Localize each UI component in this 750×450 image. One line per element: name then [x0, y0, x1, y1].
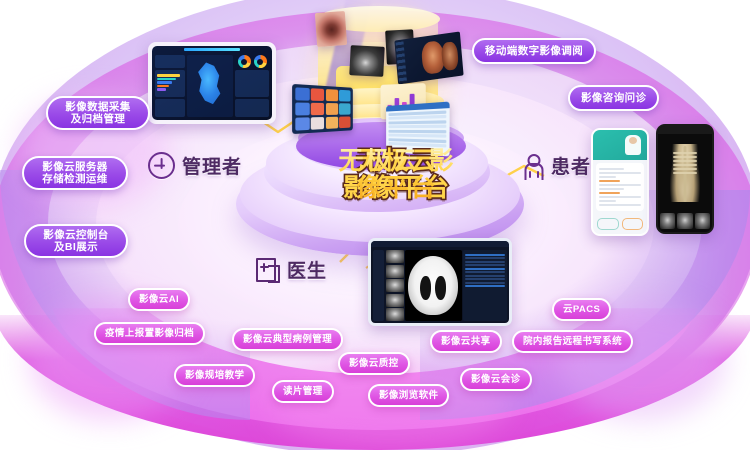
ct-lung-left — [420, 276, 431, 300]
app-tile-panel — [292, 84, 353, 134]
map-region — [195, 62, 224, 105]
person-leg-left — [529, 171, 531, 178]
bar — [157, 74, 180, 77]
pill-image-viewer-software[interactable]: 影像浏览软件 — [368, 384, 449, 407]
pill-label: 影像云典型病例管理 — [243, 334, 332, 345]
dashboard-title-bar — [184, 48, 240, 51]
tile — [295, 87, 309, 101]
platform-title: 无极云 影像平台 — [332, 148, 462, 202]
tile — [295, 102, 309, 115]
phone-3d-viewer — [656, 124, 714, 234]
pill-imaging-training[interactable]: 影像规培教学 — [174, 364, 255, 387]
circled-plus-icon — [148, 152, 175, 179]
pill-image-cloud-console[interactable]: 影像云控制台及BI展示 — [24, 224, 128, 258]
person-leg-right — [537, 171, 539, 178]
report-line-highlight — [599, 180, 620, 182]
thumbnail — [677, 213, 692, 229]
pill-label: 读片管理 — [283, 386, 323, 397]
tile — [339, 116, 350, 128]
role-doctor[interactable]: 医生 — [256, 256, 327, 283]
thumbnail — [660, 213, 675, 229]
pill-image-cloud-sharing[interactable]: 影像云共享 — [430, 330, 502, 353]
stats-widget — [235, 99, 269, 117]
table-row — [388, 134, 446, 138]
worklist-row — [465, 275, 505, 277]
tile — [295, 117, 309, 131]
worklist-row — [465, 261, 505, 263]
pill-label: 移动端数字影像调阅 — [485, 45, 583, 57]
series-thumbnail — [386, 265, 404, 278]
report-line — [599, 200, 616, 202]
tile — [311, 88, 324, 101]
view-image-button[interactable] — [597, 218, 619, 230]
pill-remote-report-writing[interactable]: 院内报告远程书写系统 — [512, 330, 633, 353]
pacs-viewer-screen — [371, 241, 509, 323]
report-app-screen — [593, 130, 647, 234]
worklist-row — [465, 278, 505, 280]
tile — [326, 116, 338, 129]
rib — [673, 152, 697, 154]
pill-image-cloud-qc[interactable]: 影像云质控 — [338, 352, 410, 375]
bi-dashboard-monitor — [148, 42, 276, 124]
pill-image-consultation[interactable]: 影像咨询问诊 — [568, 85, 659, 111]
donut-row — [235, 55, 269, 68]
bi-dashboard-screen — [152, 46, 272, 120]
ct-slice-image — [405, 250, 462, 321]
pill-label: 云PACS — [563, 304, 600, 315]
geo-map-widget — [187, 55, 233, 117]
person-body — [525, 163, 544, 180]
pill-label: 影像云会诊 — [471, 374, 521, 385]
rib — [673, 168, 697, 170]
worklist-row — [465, 282, 505, 284]
pill-cloud-pacs[interactable]: 云PACS — [552, 298, 611, 321]
report-line-highlight — [599, 192, 620, 194]
ct-thorax — [408, 256, 458, 316]
bar — [157, 78, 176, 81]
viewer-3d-screen — [658, 126, 712, 232]
bar-chart-widget — [155, 70, 185, 97]
report-line — [599, 168, 624, 170]
dashboard-left-column — [155, 49, 185, 117]
donut-chart — [254, 55, 267, 68]
worklist-row — [465, 257, 505, 259]
radiology-viewer-card — [394, 31, 463, 84]
infographic-canvas: 无极云 影像平台 无极云 影像平台 管理者 医生 患者 影像数据采集及归档管理 … — [0, 0, 750, 450]
report-app-header — [593, 130, 647, 160]
tile — [326, 89, 338, 102]
table-row — [388, 120, 446, 124]
pill-mobile-image-access[interactable]: 移动端数字影像调阅 — [472, 38, 596, 64]
endoscopy-image-card — [315, 11, 347, 47]
pacs-worklist-panel — [463, 250, 507, 321]
report-line — [599, 176, 616, 178]
tile — [339, 103, 350, 115]
rib — [673, 160, 697, 162]
pill-epidemic-reporting[interactable]: 疫情上报置影像归档 — [94, 322, 205, 345]
report-line — [599, 184, 641, 186]
report-card — [596, 163, 644, 211]
series-thumbnail — [386, 279, 404, 292]
tile — [339, 90, 350, 102]
pill-label: 院内报告远程书写系统 — [523, 336, 622, 347]
tile — [311, 103, 324, 116]
ultrasound-image-card-1 — [349, 45, 385, 77]
donut-chart — [238, 55, 251, 68]
report-line — [599, 204, 641, 206]
bar — [157, 88, 166, 91]
data-list-widget — [155, 99, 185, 117]
pill-typical-case-management[interactable]: 影像云典型病例管理 — [232, 328, 343, 351]
table-row — [388, 115, 446, 120]
glow-blob-left-bottom — [30, 300, 190, 420]
role-patient-label: 患者 — [551, 152, 591, 179]
table-row — [388, 125, 446, 128]
table-row — [388, 129, 446, 132]
worklist-row — [465, 264, 505, 266]
report-action-buttons[interactable] — [597, 218, 643, 230]
skeleton-3d-render — [670, 144, 700, 202]
rib — [673, 156, 697, 158]
pill-label: 影像数据采集及归档管理 — [65, 101, 130, 126]
viewer-3d-thumbnails — [660, 213, 710, 229]
rib — [673, 172, 697, 174]
pacs-viewer-monitor — [368, 238, 512, 326]
platform-title-line1: 无极云 — [339, 147, 420, 175]
trend-chart-widget — [235, 70, 269, 97]
document-plus-icon — [256, 258, 280, 282]
viewer-3d-toolbar — [658, 126, 712, 134]
dashboard-right-column — [235, 49, 269, 117]
pill-label: 影像咨询问诊 — [581, 92, 646, 104]
bar — [157, 85, 169, 88]
role-admin[interactable]: 管理者 — [148, 152, 242, 179]
rib — [673, 164, 697, 166]
tile — [311, 117, 324, 130]
series-thumbnail — [386, 294, 404, 307]
pill-label: 影像规培教学 — [185, 370, 244, 381]
doctor-illustration — [625, 135, 641, 155]
pill-label: 影像云AI — [139, 294, 179, 305]
person-icon — [524, 154, 544, 178]
role-doctor-label: 医生 — [287, 256, 327, 283]
pill-image-cloud-mdt[interactable]: 影像云会诊 — [460, 368, 532, 391]
phone-report-app — [591, 128, 649, 236]
document-sheet-back — [268, 265, 280, 283]
anatomy-render-2 — [441, 41, 459, 71]
pill-label: 影像云共享 — [441, 336, 491, 347]
pill-label: 影像浏览软件 — [379, 390, 438, 401]
pill-image-cloud-ai[interactable]: 影像云AI — [128, 288, 190, 311]
pacs-toolbar — [371, 241, 509, 247]
kpi-card — [155, 55, 185, 68]
series-thumbnail — [386, 308, 404, 321]
tile — [326, 103, 338, 115]
pill-label: 疫情上报置影像归档 — [105, 328, 194, 339]
thumbnail — [695, 213, 710, 229]
role-patient[interactable]: 患者 — [524, 152, 591, 179]
viewer-thumb-rail — [396, 41, 407, 82]
worklist-row — [465, 285, 505, 287]
report-line — [599, 196, 641, 198]
role-admin-label: 管理者 — [182, 152, 242, 179]
report-line — [599, 188, 624, 190]
ct-lung-right — [435, 276, 446, 300]
pill-label: 影像云服务器存储检测运维 — [42, 161, 107, 186]
bar — [157, 81, 172, 84]
pill-image-cloud-server[interactable]: 影像云服务器存储检测运维 — [22, 156, 128, 190]
pacs-series-thumbnails — [386, 250, 404, 321]
spine — [684, 146, 687, 202]
pill-image-data-collection[interactable]: 影像数据采集及归档管理 — [46, 96, 150, 130]
pacs-tool-rail — [373, 250, 384, 321]
worklist-row — [465, 268, 505, 270]
series-thumbnail — [386, 250, 404, 263]
pill-reading-management[interactable]: 读片管理 — [272, 380, 334, 403]
pill-label: 影像云控制台及BI展示 — [43, 229, 108, 254]
view-report-button[interactable] — [622, 218, 644, 230]
report-line — [599, 172, 641, 174]
pill-label: 影像云质控 — [349, 358, 399, 369]
worklist-row — [465, 254, 505, 256]
worklist-row — [465, 271, 505, 273]
